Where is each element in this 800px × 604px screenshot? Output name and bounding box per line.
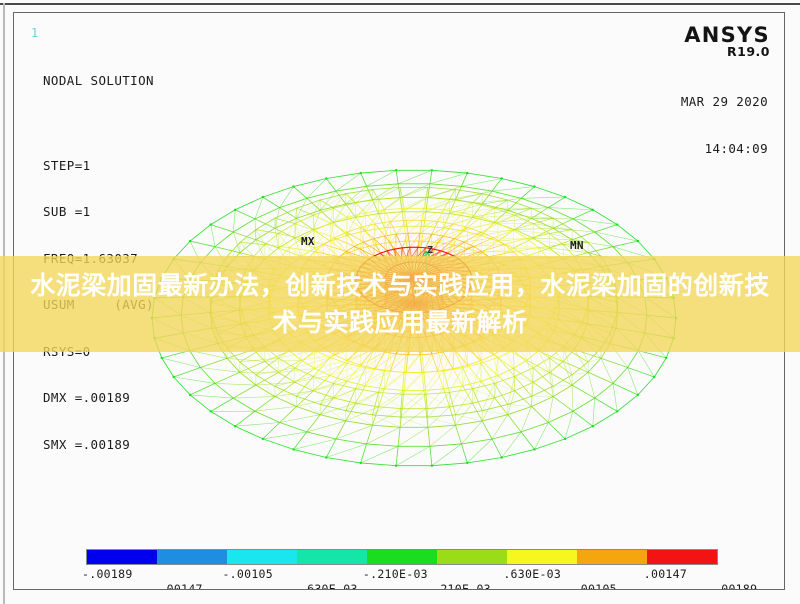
- overlay-title-text: 水泥梁加固最新办法，创新技术与实践应用，水泥梁加固的创新技术与实践应用最新解析: [30, 267, 770, 341]
- legend-tick-top-3: .630E-03: [503, 567, 561, 581]
- min-marker-label: MN: [570, 239, 584, 252]
- result-title: NODAL SOLUTION: [43, 73, 154, 89]
- top-border-rule: [0, 3, 800, 5]
- contour-color-legend: -.00189-.00105-.210E-03.630E-03.00147 -.…: [86, 549, 732, 590]
- legend-ticks-lower: -.00147-.630E-03.210E-03.00105.00189: [86, 582, 732, 590]
- screenshot-root: MX MN Z 1 NODAL SOLUTION STEP=1 SUB =1 F…: [0, 0, 800, 604]
- legend-band-2: [227, 550, 297, 564]
- result-line-sub: SUB =1: [43, 204, 154, 220]
- legend-tick-top-0: -.00189: [82, 567, 133, 581]
- result-line-smx: SMX =.00189: [43, 437, 154, 453]
- legend-tick-bottom-2: .210E-03: [433, 582, 491, 590]
- ansys-release-label: R19.0: [727, 44, 770, 59]
- plot-number-label: 1: [31, 26, 38, 40]
- legend-tick-bottom-3: .00105: [574, 582, 617, 590]
- max-marker-label: MX: [301, 235, 315, 248]
- plot-date: MAR 29 2020: [681, 94, 768, 110]
- plot-time: 14:04:09: [681, 141, 768, 157]
- overlay-title-banner: 水泥梁加固最新办法，创新技术与实践应用，水泥梁加固的创新技术与实践应用最新解析: [0, 256, 800, 352]
- legend-ticks-upper: -.00189-.00105-.210E-03.630E-03.00147: [86, 567, 732, 583]
- result-line-step: STEP=1: [43, 158, 154, 174]
- legend-tick-bottom-0: -.00147: [152, 582, 203, 590]
- legend-band-5: [437, 550, 507, 564]
- legend-tick-top-2: -.210E-03: [363, 567, 428, 581]
- legend-color-bar: [86, 549, 718, 565]
- legend-band-8: [647, 550, 717, 564]
- timestamp-block: MAR 29 2020 14:04:09: [681, 63, 768, 187]
- legend-tick-top-1: -.00105: [222, 567, 273, 581]
- legend-band-3: [297, 550, 367, 564]
- z-axis-label: Z: [427, 245, 433, 256]
- legend-tick-bottom-4: .00189: [714, 582, 757, 590]
- legend-band-0: [87, 550, 157, 564]
- header-spacer: [43, 120, 154, 127]
- legend-band-7: [577, 550, 647, 564]
- legend-tick-top-4: .00147: [644, 567, 687, 581]
- result-line-dmx: DMX =.00189: [43, 390, 154, 406]
- legend-tick-bottom-1: -.630E-03: [293, 582, 358, 590]
- legend-band-4: [367, 550, 437, 564]
- legend-band-6: [507, 550, 577, 564]
- legend-band-1: [157, 550, 227, 564]
